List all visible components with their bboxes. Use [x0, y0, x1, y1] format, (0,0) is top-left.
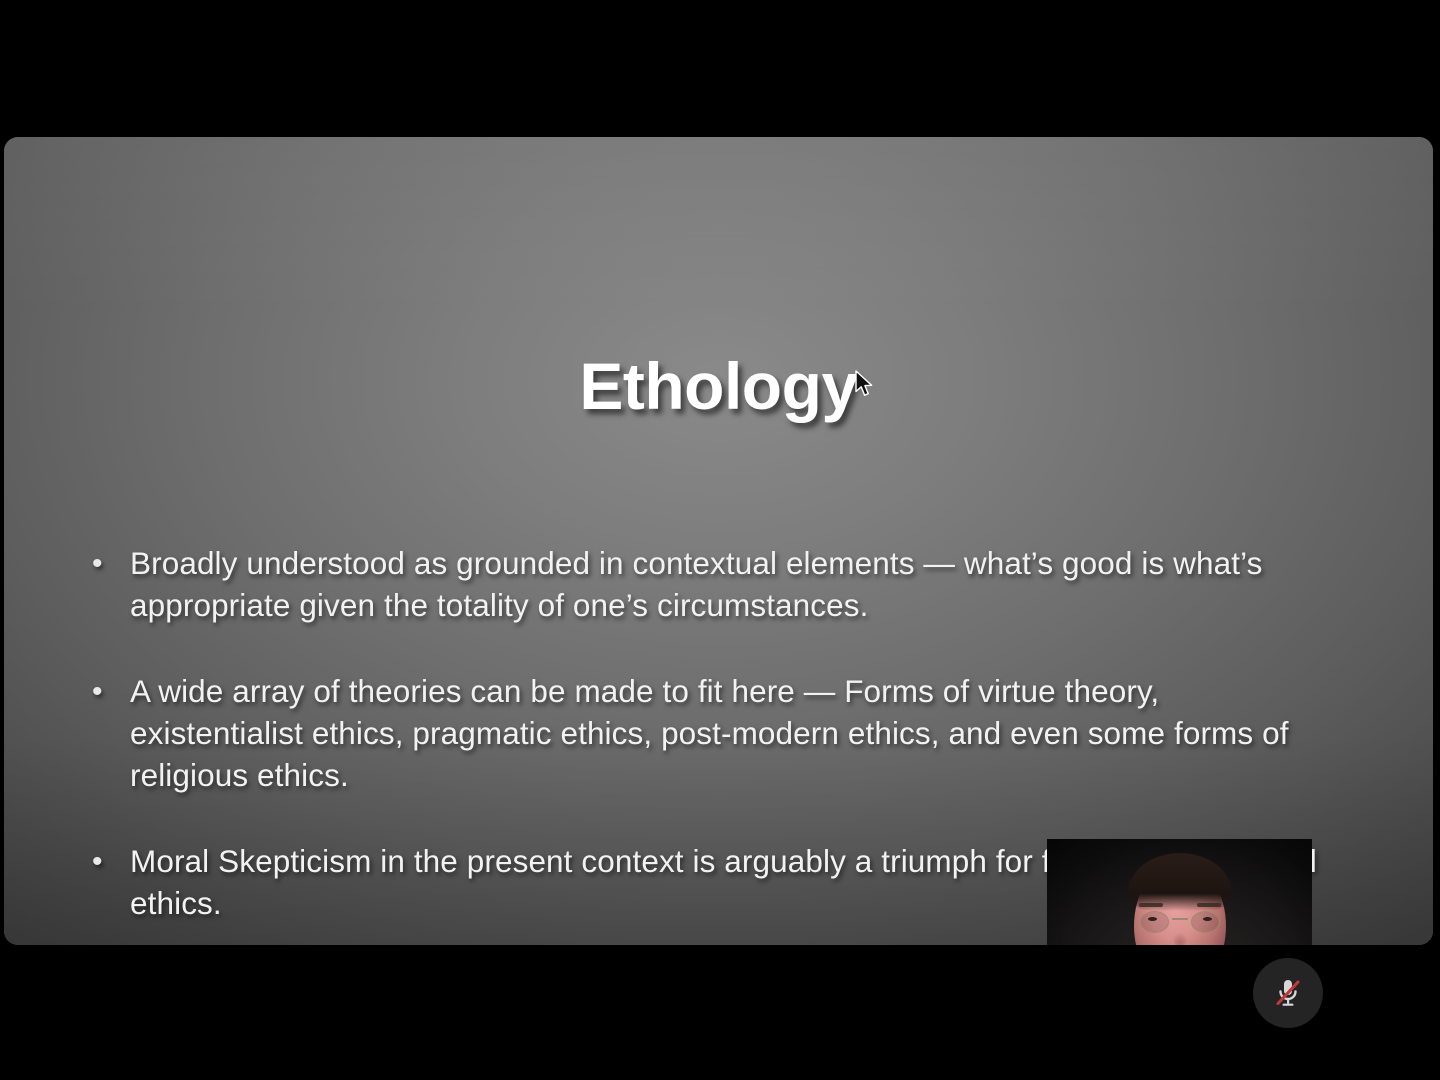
- bullet-marker-icon: •: [86, 670, 130, 713]
- eyeglass-bridge: [1172, 918, 1188, 920]
- bullet-item: • A wide array of theories can be made t…: [86, 670, 1326, 796]
- bullet-item: • Broadly understood as grounded in cont…: [86, 542, 1326, 626]
- video-eyebrow-right: [1197, 903, 1221, 907]
- bullet-text: Broadly understood as grounded in contex…: [130, 542, 1326, 626]
- microphone-muted-icon: [1268, 973, 1308, 1013]
- eyeglass-lens-right: [1191, 911, 1220, 933]
- video-nose: [1173, 931, 1187, 945]
- mic-mute-button[interactable]: Unmute: [1253, 958, 1323, 1028]
- participant-video-tile[interactable]: Man with wire-rimmed glasses wearing a d…: [1047, 839, 1312, 945]
- video-eyebrow-left: [1139, 903, 1163, 907]
- bullet-text: A wide array of theories can be made to …: [130, 670, 1326, 796]
- eyeglasses-icon: [1138, 911, 1222, 931]
- screen-share-stage: Ethology • Broadly understood as grounde…: [0, 0, 1440, 1080]
- slide-title: Ethology: [4, 353, 1433, 419]
- presentation-slide[interactable]: Ethology • Broadly understood as grounde…: [4, 137, 1433, 945]
- eyeglass-lens-left: [1140, 911, 1169, 933]
- bullet-marker-icon: •: [86, 840, 130, 883]
- bullet-marker-icon: •: [86, 542, 130, 585]
